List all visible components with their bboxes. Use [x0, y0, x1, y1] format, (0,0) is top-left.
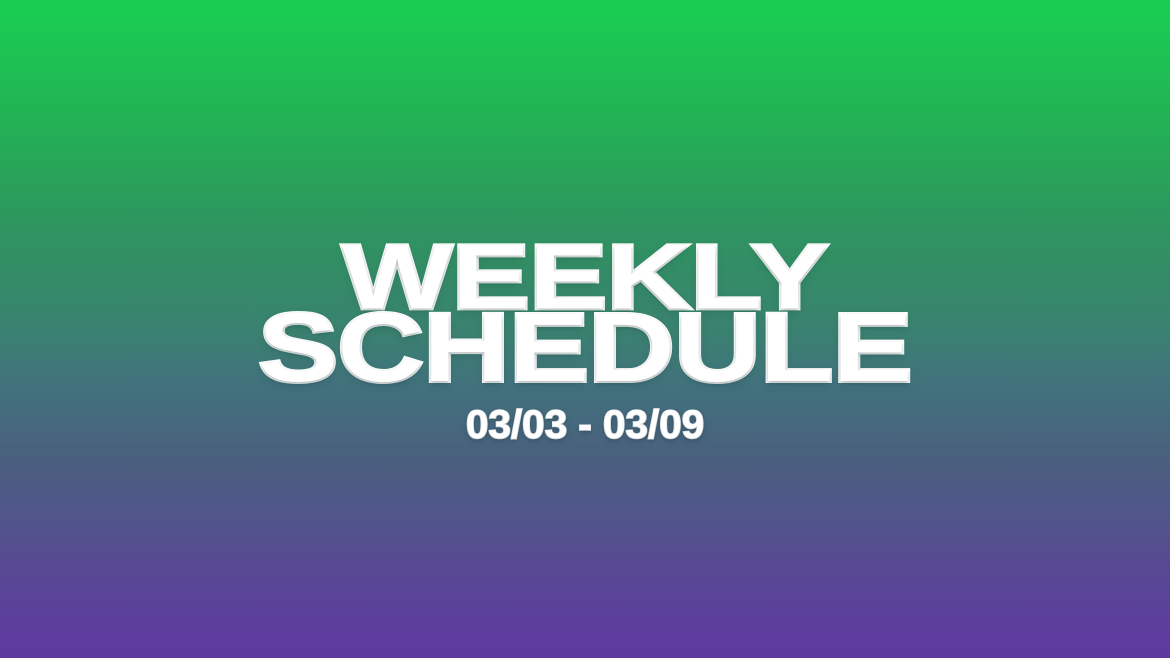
- title-block: WEEKLY SCHEDULE: [0, 243, 1170, 389]
- date-range-label: 03/03 - 03/09: [0, 402, 1170, 448]
- schedule-banner: WEEKLY SCHEDULE 03/03 - 03/09: [0, 0, 1170, 658]
- headline-row-2: SCHEDULE: [0, 311, 1170, 389]
- title-line-schedule: SCHEDULE: [0, 310, 1170, 386]
